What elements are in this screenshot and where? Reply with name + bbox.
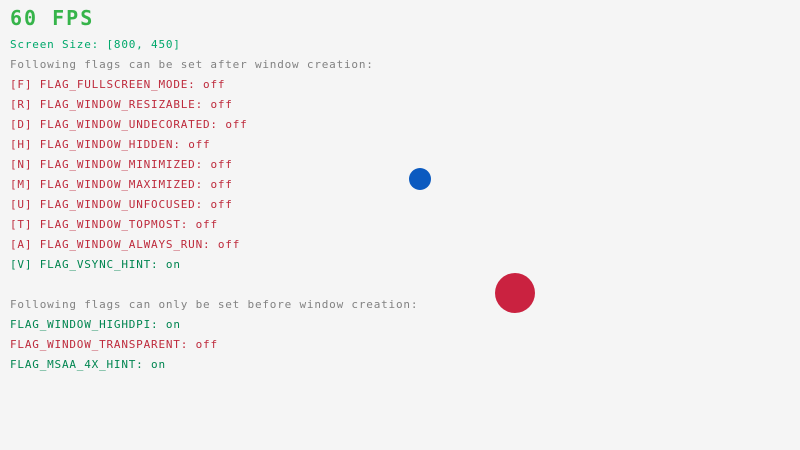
flag-name: FLAG_MSAA_4X_HINT: bbox=[10, 358, 144, 371]
flag-shortcut-key: [A] bbox=[10, 238, 32, 251]
flag-shortcut-key: [N] bbox=[10, 158, 32, 171]
flag-name: FLAG_WINDOW_TOPMOST: bbox=[40, 218, 188, 231]
flag-name: FLAG_FULLSCREEN_MODE: bbox=[40, 78, 196, 91]
flag-row[interactable]: [U] FLAG_WINDOW_UNFOCUSED: off bbox=[10, 199, 233, 210]
flag-state-value: on bbox=[166, 318, 181, 331]
flag-state-value: off bbox=[210, 98, 232, 111]
flag-state-value: off bbox=[203, 78, 225, 91]
flag-name: FLAG_WINDOW_HIDDEN: bbox=[40, 138, 181, 151]
flag-shortcut-key: [V] bbox=[10, 258, 32, 271]
flag-shortcut-key: [T] bbox=[10, 218, 32, 231]
screen-size-label: Screen Size: [800, 450] bbox=[10, 39, 181, 50]
flag-state-value: off bbox=[218, 238, 240, 251]
flag-state-value: off bbox=[225, 118, 247, 131]
flag-shortcut-key: [F] bbox=[10, 78, 32, 91]
flag-row[interactable]: [N] FLAG_WINDOW_MINIMIZED: off bbox=[10, 159, 233, 170]
flag-shortcut-key: [D] bbox=[10, 118, 32, 131]
flag-state-value: off bbox=[210, 178, 232, 191]
flag-row[interactable]: FLAG_WINDOW_TRANSPARENT: off bbox=[10, 339, 218, 350]
flag-shortcut-key: [U] bbox=[10, 198, 32, 211]
flag-state-value: off bbox=[188, 138, 210, 151]
flag-name: FLAG_WINDOW_RESIZABLE: bbox=[40, 98, 203, 111]
section-header-before-creation: Following flags can only be set before w… bbox=[10, 299, 418, 310]
flag-row[interactable]: [F] FLAG_FULLSCREEN_MODE: off bbox=[10, 79, 225, 90]
flag-state-value: off bbox=[210, 198, 232, 211]
flag-name: FLAG_WINDOW_HIGHDPI: bbox=[10, 318, 158, 331]
flag-name: FLAG_WINDOW_MINIMIZED: bbox=[40, 158, 203, 171]
flag-state-value: on bbox=[166, 258, 181, 271]
flag-row[interactable]: FLAG_MSAA_4X_HINT: on bbox=[10, 359, 166, 370]
flag-row[interactable]: [H] FLAG_WINDOW_HIDDEN: off bbox=[10, 139, 210, 150]
flag-row[interactable]: [M] FLAG_WINDOW_MAXIMIZED: off bbox=[10, 179, 233, 190]
flag-row[interactable]: [A] FLAG_WINDOW_ALWAYS_RUN: off bbox=[10, 239, 240, 250]
raylib-window: 60 FPS Screen Size: [800, 450] Following… bbox=[0, 0, 800, 450]
flag-name: FLAG_WINDOW_UNDECORATED: bbox=[40, 118, 218, 131]
flag-shortcut-key: [R] bbox=[10, 98, 32, 111]
flag-row[interactable]: [V] FLAG_VSYNC_HINT: on bbox=[10, 259, 181, 270]
flag-shortcut-key: [M] bbox=[10, 178, 32, 191]
fps-counter: 60 FPS bbox=[10, 8, 94, 28]
flag-row[interactable]: [R] FLAG_WINDOW_RESIZABLE: off bbox=[10, 99, 233, 110]
flag-state-value: on bbox=[151, 358, 166, 371]
flag-name: FLAG_WINDOW_MAXIMIZED: bbox=[40, 178, 203, 191]
flag-row[interactable]: [D] FLAG_WINDOW_UNDECORATED: off bbox=[10, 119, 248, 130]
flag-row[interactable]: FLAG_WINDOW_HIGHDPI: on bbox=[10, 319, 181, 330]
flag-state-value: off bbox=[210, 158, 232, 171]
flag-state-value: off bbox=[196, 218, 218, 231]
ball-blue-circle bbox=[409, 168, 431, 190]
flag-name: FLAG_WINDOW_TRANSPARENT: bbox=[10, 338, 188, 351]
flag-state-value: off bbox=[196, 338, 218, 351]
flag-name: FLAG_WINDOW_ALWAYS_RUN: bbox=[40, 238, 211, 251]
section-header-after-creation: Following flags can be set after window … bbox=[10, 59, 374, 70]
flag-row[interactable]: [T] FLAG_WINDOW_TOPMOST: off bbox=[10, 219, 218, 230]
flag-name: FLAG_WINDOW_UNFOCUSED: bbox=[40, 198, 203, 211]
flag-name: FLAG_VSYNC_HINT: bbox=[40, 258, 159, 271]
flag-shortcut-key: [H] bbox=[10, 138, 32, 151]
ball-red-circle bbox=[495, 273, 535, 313]
